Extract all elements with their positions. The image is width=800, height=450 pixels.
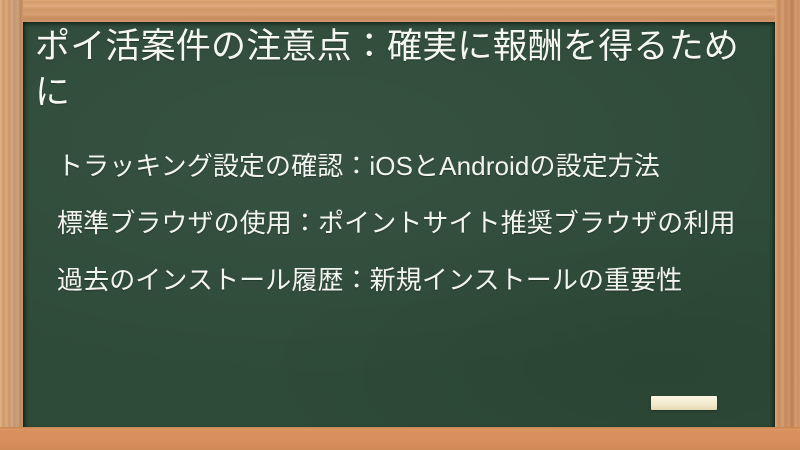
chalkboard-surface: ポイ活案件の注意点：確実に報酬を得るために トラッキング設定の確認：iOSとAn… (23, 22, 775, 431)
frame-rail-right (775, 0, 800, 450)
page-title: ポイ活案件の注意点：確実に報酬を得るために (35, 24, 751, 116)
chalk-stick-icon (651, 396, 717, 410)
frame-chalk-ledge (0, 430, 800, 450)
frame-rail-top (0, 0, 800, 22)
list-item: トラッキング設定の確認：iOSとAndroidの設定方法 (57, 147, 763, 185)
list-item: 過去のインストール履歴：新規インストールの重要性 (57, 261, 763, 299)
bullet-list: トラッキング設定の確認：iOSとAndroidの設定方法 標準ブラウザの使用：ポ… (57, 147, 763, 299)
blackboard-slide: ポイ活案件の注意点：確実に報酬を得るために トラッキング設定の確認：iOSとAn… (0, 0, 800, 450)
list-item: 標準ブラウザの使用：ポイントサイト推奨ブラウザの利用 (57, 204, 763, 242)
frame-rail-left (0, 0, 23, 450)
